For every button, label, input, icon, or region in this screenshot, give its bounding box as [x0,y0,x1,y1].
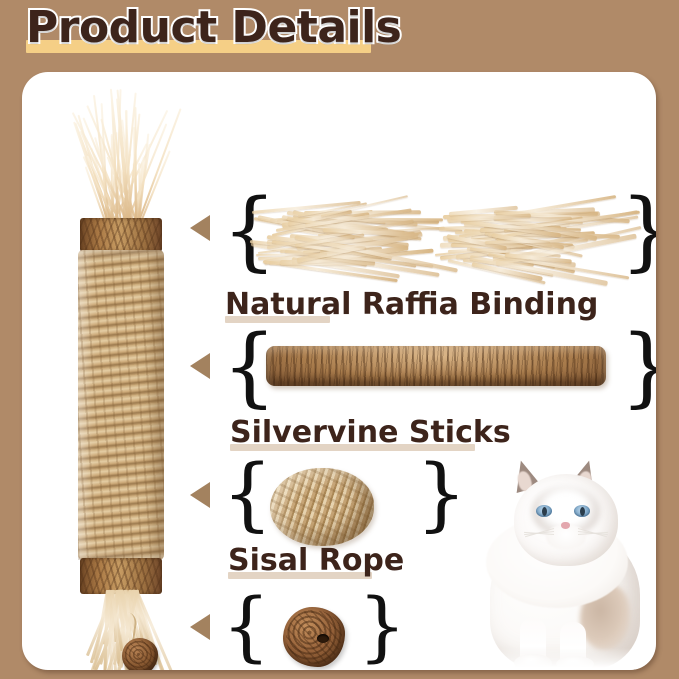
cat-pupil-right [580,507,585,516]
arrow-icon-gallnut [190,614,210,640]
feature-label-silvervine: Silvervine Sticks [230,415,511,450]
raffia-tuft-top [74,84,170,224]
raffia-sample-2 [434,204,606,270]
cat-photo-fade [462,648,656,670]
wood-band-top [80,218,162,252]
arrow-icon-sisal [190,482,210,508]
raffia-strand [280,260,375,265]
product-photo-chew-stick [52,82,192,662]
feature-label-sisal: Sisal Rope [228,543,404,578]
cat-photo [462,452,656,670]
cat-pupil-left [542,507,547,516]
page-header: Product Details [0,0,679,72]
cat-nose [561,522,570,529]
sisal-rope-wrap [78,250,164,560]
raffia-sample-1 [248,204,426,270]
open-brace-sisal: { [222,454,273,534]
sisal-rope-ball-sample [270,468,374,546]
gallnut-hole [317,634,329,643]
arrow-icon-raffia [190,215,210,241]
close-brace-gallnut: } [358,588,406,664]
close-brace-sisal: } [416,454,467,534]
close-brace-silvervine: } [620,324,656,410]
arrow-icon-silvervine [190,353,210,379]
open-brace-gallnut: { [222,588,270,664]
page-title: Product Details [26,2,401,53]
gallnut-sample [283,607,345,667]
content-card: { } Natural Raffia Binding { } Silvervin… [22,72,656,670]
silvervine-stick-sample [266,346,606,386]
gallnut-charm [122,638,158,670]
feature-label-raffia: Natural Raffia Binding [225,287,598,322]
